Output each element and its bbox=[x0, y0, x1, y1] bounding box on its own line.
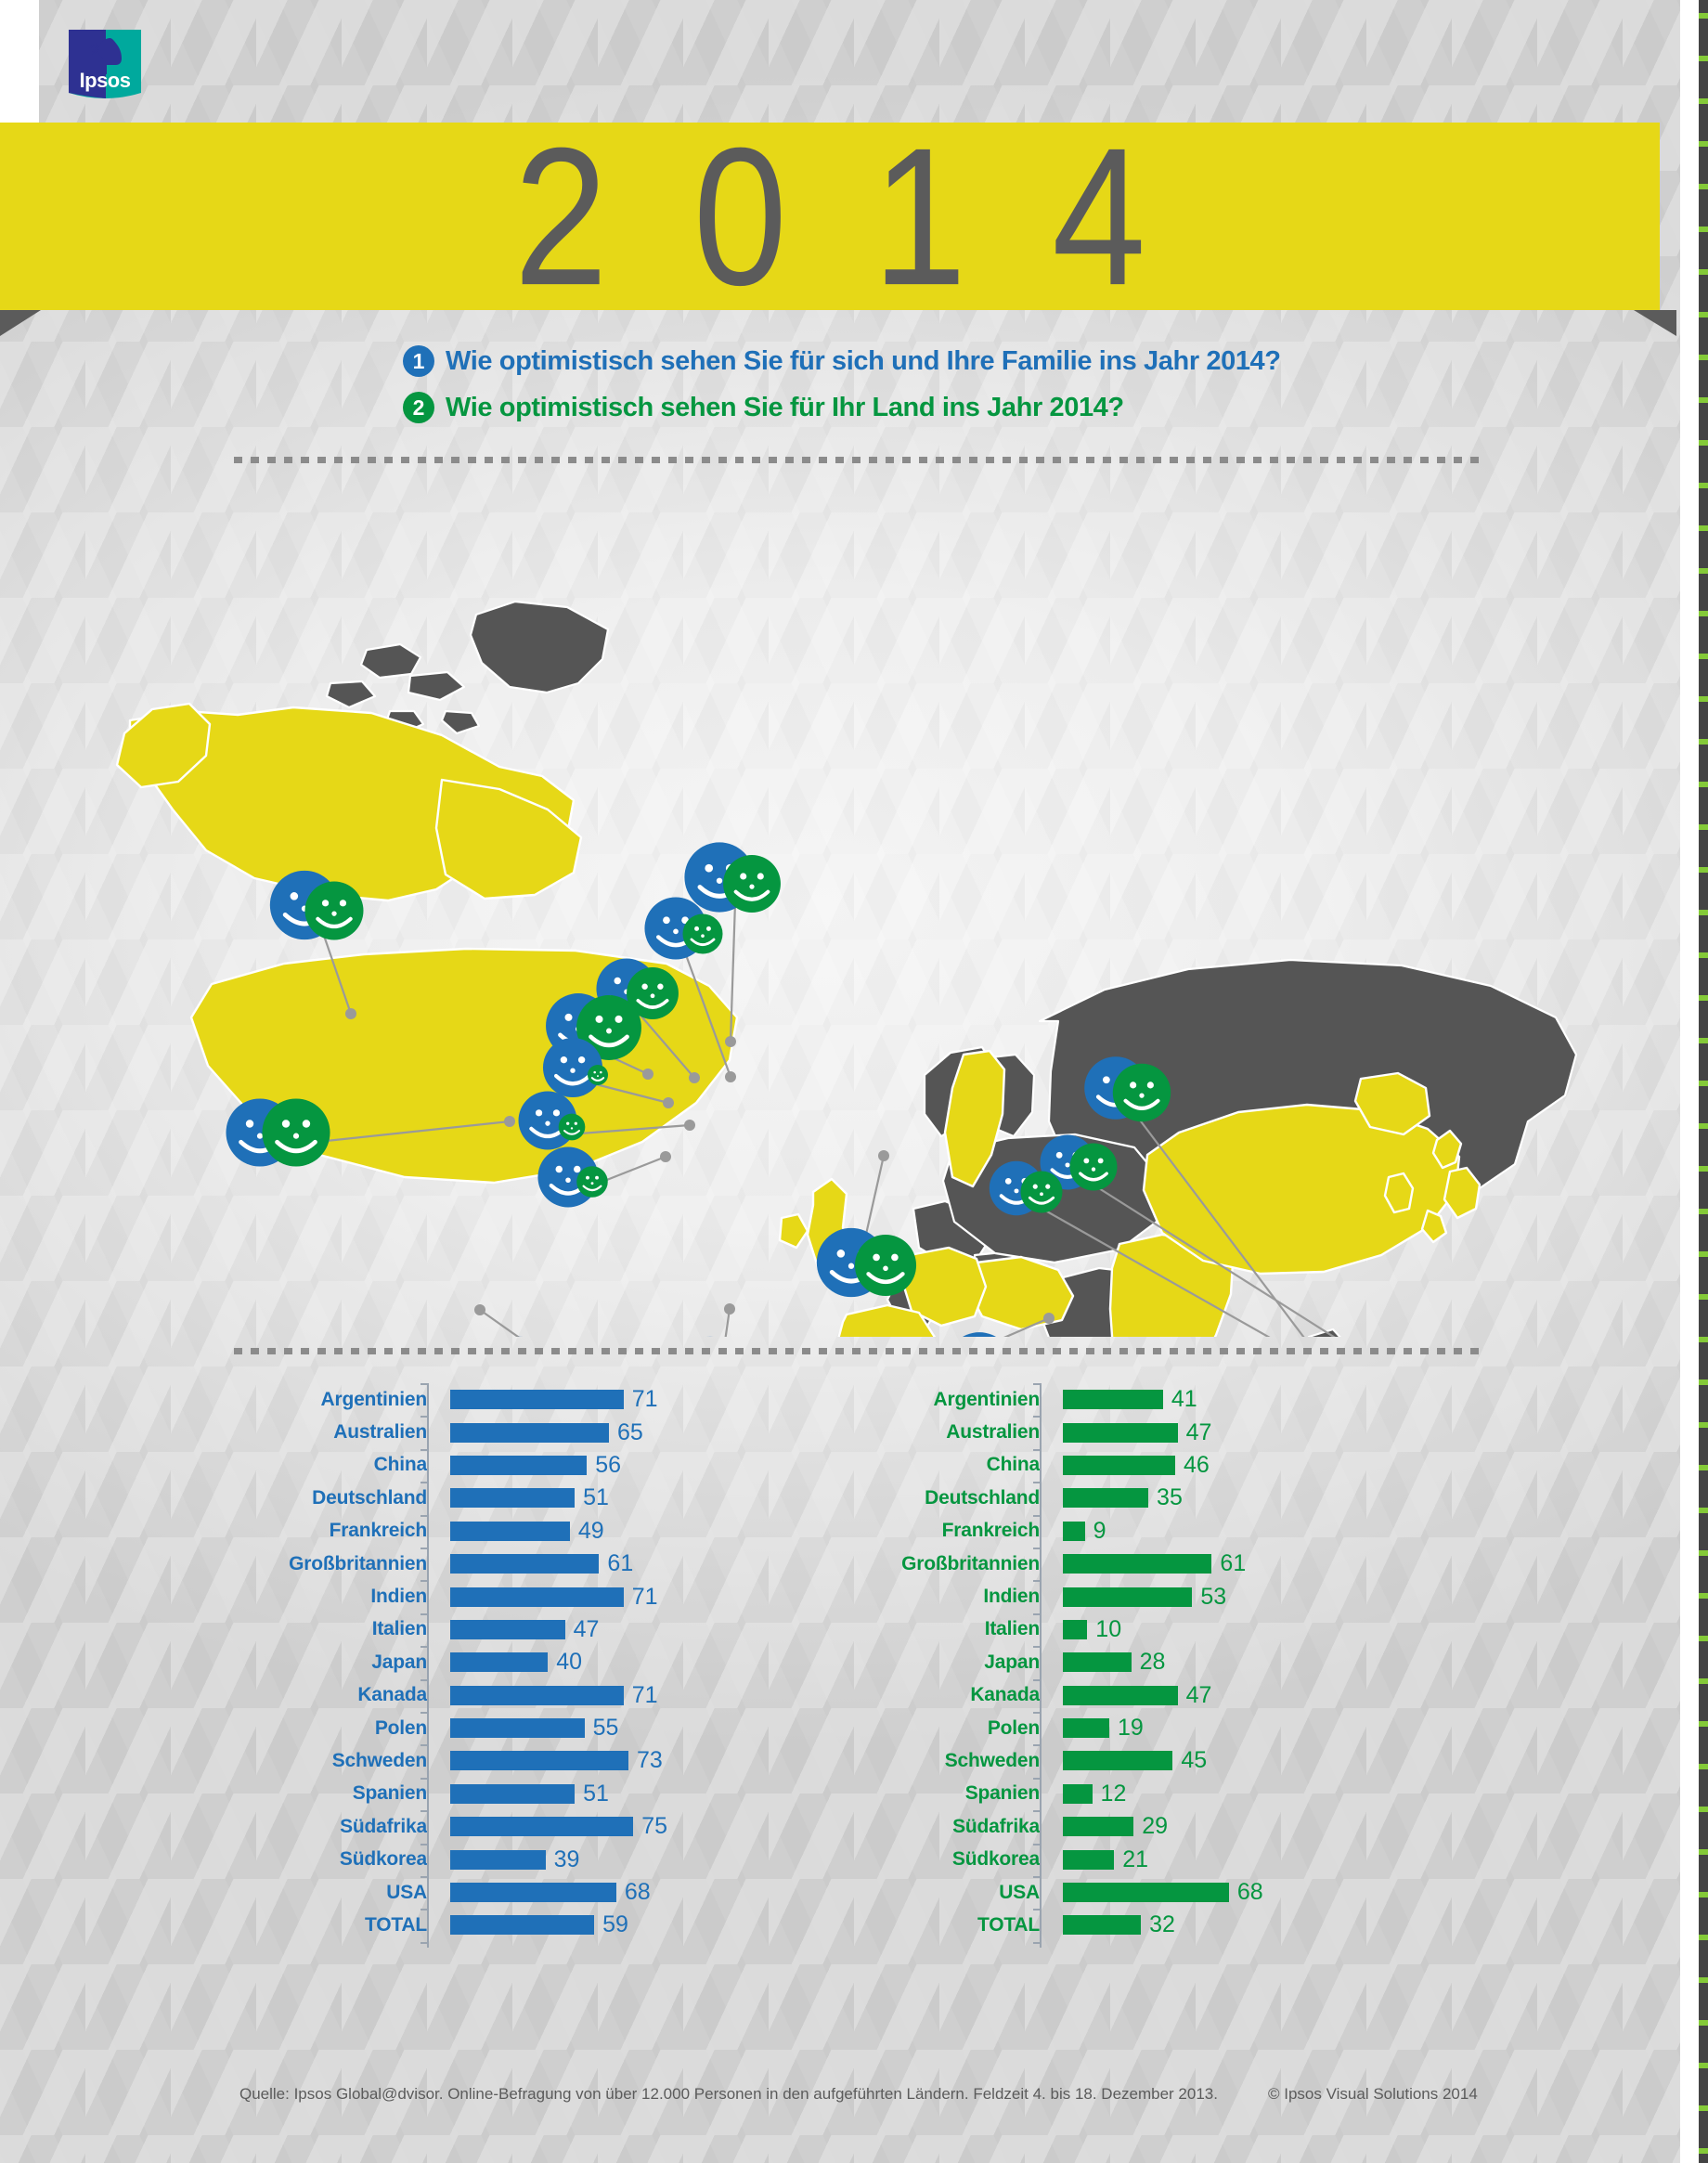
chart-bar-value: 41 bbox=[1171, 1388, 1197, 1411]
svg-text:Ipsos: Ipsos bbox=[80, 69, 131, 92]
chart-bar bbox=[450, 1554, 599, 1574]
chart-bar bbox=[450, 1751, 628, 1770]
chart-bar-value: 53 bbox=[1200, 1586, 1226, 1609]
chart-bar bbox=[1063, 1652, 1132, 1672]
chart-bar-value: 35 bbox=[1157, 1486, 1183, 1509]
chart-bar-value: 40 bbox=[556, 1651, 582, 1674]
chart-row-track: 59 bbox=[440, 1909, 854, 1941]
chart-bar bbox=[450, 1883, 616, 1902]
chart-bar bbox=[450, 1522, 570, 1541]
chart-axis-tick bbox=[1033, 1712, 1042, 1714]
bar-chart-personal: Argentinien71Australien65China56Deutschl… bbox=[278, 1383, 854, 1942]
chart-row-track: 61 bbox=[1053, 1548, 1467, 1580]
chart-bar-value: 71 bbox=[632, 1684, 658, 1707]
chart-row: Japan40 bbox=[278, 1646, 854, 1678]
chart-bar bbox=[450, 1652, 548, 1672]
chart-row-label: Argentinien bbox=[891, 1389, 1053, 1411]
chart-bar bbox=[1063, 1850, 1114, 1870]
chart-bar bbox=[1063, 1883, 1229, 1902]
chart-row-track: 71 bbox=[440, 1679, 854, 1712]
question-2: 2 Wie optimistisch sehen Sie für Ihr Lan… bbox=[403, 392, 1124, 423]
chart-row: Südafrika75 bbox=[278, 1810, 854, 1843]
chart-axis-tick bbox=[1033, 1449, 1042, 1451]
chart-bar-value: 56 bbox=[595, 1454, 621, 1477]
chart-row-label: Großbritannien bbox=[891, 1553, 1053, 1575]
question-2-text: Wie optimistisch sehen Sie für Ihr Land … bbox=[446, 393, 1124, 423]
chart-row-track: 45 bbox=[1053, 1744, 1467, 1777]
chart-axis-tick bbox=[1033, 1778, 1042, 1780]
smiley-blue-australien bbox=[946, 1332, 1013, 1337]
chart-axis-tick bbox=[1033, 1876, 1042, 1878]
chart-row-label: Indien bbox=[278, 1586, 440, 1608]
chart-axis bbox=[1040, 1383, 1050, 1948]
smiley-green-indien bbox=[855, 1235, 916, 1296]
chart-bar bbox=[1063, 1456, 1175, 1475]
chart-row: Frankreich49 bbox=[278, 1515, 854, 1548]
chart-bar-value: 28 bbox=[1140, 1651, 1166, 1674]
chart-row-label: Südkorea bbox=[278, 1848, 440, 1871]
chart-axis-tick bbox=[1033, 1942, 1042, 1944]
chart-bar-value: 39 bbox=[554, 1848, 580, 1872]
chart-bar-value: 51 bbox=[583, 1782, 609, 1806]
chart-bar bbox=[450, 1456, 587, 1475]
smiley-green-china bbox=[1113, 1064, 1171, 1121]
chart-row: TOTAL32 bbox=[891, 1909, 1467, 1941]
chart-axis-tick bbox=[421, 1482, 429, 1483]
chart-bar-value: 9 bbox=[1093, 1520, 1106, 1543]
chart-bar bbox=[1063, 1390, 1163, 1409]
smiley-green-südkorea bbox=[1020, 1171, 1062, 1212]
chart-bar-value: 47 bbox=[1186, 1421, 1212, 1444]
chart-row-label: Kanada bbox=[278, 1684, 440, 1706]
chart-row-label: TOTAL bbox=[278, 1914, 440, 1936]
chart-bar-value: 59 bbox=[602, 1913, 628, 1936]
copyright-note: © Ipsos Visual Solutions 2014 bbox=[1268, 2085, 1478, 2104]
chart-bar bbox=[450, 1488, 575, 1508]
chart-bar-value: 75 bbox=[641, 1815, 667, 1838]
chart-row-label: Australien bbox=[891, 1421, 1053, 1444]
chart-axis-tick bbox=[421, 1744, 429, 1746]
chart-row: Kanada47 bbox=[891, 1679, 1467, 1712]
chart-axis-tick bbox=[1033, 1515, 1042, 1517]
chart-axis-tick bbox=[421, 1383, 429, 1385]
chart-bar-value: 61 bbox=[607, 1552, 633, 1575]
chart-bar-value: 71 bbox=[632, 1586, 658, 1609]
chart-row: Argentinien41 bbox=[891, 1383, 1467, 1416]
chart-row: Australien65 bbox=[278, 1416, 854, 1448]
chart-bar-value: 65 bbox=[617, 1421, 643, 1444]
chart-axis-tick bbox=[1033, 1580, 1042, 1582]
chart-bar bbox=[1063, 1488, 1148, 1508]
chart-row-label: Kanada bbox=[891, 1684, 1053, 1706]
chart-row-label: Frankreich bbox=[891, 1520, 1053, 1542]
chart-row-track: 73 bbox=[440, 1744, 854, 1777]
chart-row-label: Argentinien bbox=[278, 1389, 440, 1411]
chart-bar bbox=[1063, 1587, 1192, 1607]
chart-bar-value: 51 bbox=[583, 1486, 609, 1509]
chart-row-track: 49 bbox=[440, 1515, 854, 1548]
chart-bar bbox=[450, 1817, 633, 1836]
smiley-green-polen bbox=[682, 913, 722, 953]
chart-axis-tick bbox=[421, 1646, 429, 1648]
chart-bar bbox=[1063, 1620, 1087, 1639]
smiley-green-schweden bbox=[723, 855, 781, 913]
chart-row: China46 bbox=[891, 1449, 1467, 1482]
chart-row-track: 47 bbox=[1053, 1416, 1467, 1448]
chart-row-label: Deutschland bbox=[278, 1487, 440, 1509]
chart-bar-value: 68 bbox=[625, 1881, 651, 1904]
chart-row-track: 51 bbox=[440, 1482, 854, 1514]
chart-row-label: China bbox=[278, 1454, 440, 1476]
chart-row-label: Frankreich bbox=[278, 1520, 440, 1542]
chart-bar bbox=[1063, 1686, 1178, 1705]
chart-bar bbox=[450, 1423, 609, 1443]
chart-axis-tick bbox=[421, 1778, 429, 1780]
chart-row-label: Japan bbox=[891, 1651, 1053, 1674]
chart-bar bbox=[450, 1718, 585, 1738]
chart-row: Australien47 bbox=[891, 1416, 1467, 1448]
chart-row: Großbritannien61 bbox=[278, 1548, 854, 1580]
chart-row-label: TOTAL bbox=[891, 1914, 1053, 1936]
chart-row-track: 53 bbox=[1053, 1580, 1467, 1613]
chart-bar bbox=[450, 1620, 565, 1639]
chart-row-track: 21 bbox=[1053, 1843, 1467, 1875]
chart-row-label: Schweden bbox=[278, 1750, 440, 1772]
chart-bar bbox=[1063, 1718, 1109, 1738]
chart-row-label: Schweden bbox=[891, 1750, 1053, 1772]
chart-row-label: China bbox=[891, 1454, 1053, 1476]
chart-axis-tick bbox=[421, 1942, 429, 1944]
chart-bar bbox=[450, 1686, 624, 1705]
chart-2-rows: Argentinien41Australien47China46Deutschl… bbox=[891, 1383, 1467, 1942]
chart-axis-tick bbox=[421, 1515, 429, 1517]
chart-axis-tick bbox=[421, 1679, 429, 1681]
chart-row: Italien47 bbox=[278, 1613, 854, 1646]
chart-row: Deutschland35 bbox=[891, 1482, 1467, 1514]
chart-bar-value: 32 bbox=[1149, 1913, 1175, 1936]
chart-axis-tick bbox=[421, 1613, 429, 1615]
chart-axis-tick bbox=[1033, 1548, 1042, 1549]
chart-axis-tick bbox=[1033, 1383, 1042, 1385]
chart-row-track: 51 bbox=[440, 1778, 854, 1810]
chart-bar bbox=[1063, 1522, 1085, 1541]
chart-axis-tick bbox=[421, 1876, 429, 1878]
chart-bar bbox=[1063, 1423, 1178, 1443]
chart-row: Polen19 bbox=[891, 1712, 1467, 1744]
chart-bar-value: 55 bbox=[593, 1716, 619, 1740]
chart-row-track: 71 bbox=[440, 1383, 854, 1416]
chart-row-track: 41 bbox=[1053, 1383, 1467, 1416]
chart-bar bbox=[1063, 1817, 1133, 1836]
chart-row-track: 32 bbox=[1053, 1909, 1467, 1941]
source-note: Quelle: Ipsos Global@dvisor. Online-Befr… bbox=[239, 2085, 1218, 2104]
chart-bar-value: 47 bbox=[574, 1618, 600, 1641]
chart-row: Indien71 bbox=[278, 1580, 854, 1613]
chart-row-label: USA bbox=[278, 1882, 440, 1904]
smiley-green-italien bbox=[559, 1114, 586, 1141]
chart-row-track: 47 bbox=[440, 1613, 854, 1646]
question-1-text: Wie optimistisch sehen Sie für sich und … bbox=[446, 346, 1281, 377]
chart-row-label: Südafrika bbox=[891, 1816, 1053, 1838]
ipsos-logo: Ipsos bbox=[69, 30, 141, 104]
chart-row-track: 40 bbox=[440, 1646, 854, 1678]
chart-row: Frankreich9 bbox=[891, 1515, 1467, 1548]
chart-bar-value: 12 bbox=[1101, 1782, 1127, 1806]
chart-axis-tick bbox=[421, 1416, 429, 1418]
chart-row-label: Australien bbox=[278, 1421, 440, 1444]
chart-bar-value: 19 bbox=[1118, 1716, 1144, 1740]
chart-axis-tick bbox=[421, 1712, 429, 1714]
chart-axis bbox=[427, 1383, 437, 1948]
chart-axis-tick bbox=[1033, 1416, 1042, 1418]
question-1-badge: 1 bbox=[403, 345, 434, 377]
chart-bar bbox=[450, 1587, 624, 1607]
chart-row: Argentinien71 bbox=[278, 1383, 854, 1416]
chart-row-label: Deutschland bbox=[891, 1487, 1053, 1509]
chart-row-label: Italien bbox=[278, 1618, 440, 1640]
chart-row: Schweden45 bbox=[891, 1744, 1467, 1777]
year-banner-label: 2014 bbox=[0, 108, 1660, 325]
chart-axis-tick bbox=[421, 1548, 429, 1549]
chart-row: USA68 bbox=[278, 1876, 854, 1909]
chart-axis-tick bbox=[1033, 1810, 1042, 1812]
chart-axis-tick bbox=[1033, 1844, 1042, 1846]
question-1: 1 Wie optimistisch sehen Sie für sich un… bbox=[403, 345, 1281, 377]
chart-axis-tick bbox=[421, 1844, 429, 1846]
smiley-green-japan bbox=[1070, 1144, 1118, 1191]
chart-row-label: Polen bbox=[278, 1717, 440, 1740]
chart-row-track: 75 bbox=[440, 1810, 854, 1843]
charts-section: 1 2 Argentinien71Australien65China56Deut… bbox=[0, 1383, 1708, 2014]
chart-bar bbox=[1063, 1784, 1093, 1804]
chart-axis-tick bbox=[1033, 1613, 1042, 1615]
chart-axis-tick bbox=[421, 1449, 429, 1451]
chart-row-track: 29 bbox=[1053, 1810, 1467, 1843]
chart-row: TOTAL59 bbox=[278, 1909, 854, 1941]
chart-row-label: Spanien bbox=[891, 1782, 1053, 1805]
chart-axis-tick bbox=[421, 1810, 429, 1812]
chart-row-track: 35 bbox=[1053, 1482, 1467, 1514]
chart-bar bbox=[1063, 1915, 1141, 1935]
divider-top bbox=[234, 457, 1480, 463]
chart-row-track: 19 bbox=[1053, 1712, 1467, 1744]
chart-bar-value: 61 bbox=[1220, 1552, 1246, 1575]
chart-bar-value: 71 bbox=[632, 1388, 658, 1411]
smiley-green-usa bbox=[262, 1098, 330, 1166]
smiley-green-frankreich bbox=[588, 1065, 608, 1085]
chart-row-track: 55 bbox=[440, 1712, 854, 1744]
chart-row: Südkorea39 bbox=[278, 1843, 854, 1875]
chart-row-label: Südafrika bbox=[278, 1816, 440, 1838]
chart-row-track: 68 bbox=[1053, 1876, 1467, 1909]
chart-row-label: Südkorea bbox=[891, 1848, 1053, 1871]
chart-row-track: 47 bbox=[1053, 1679, 1467, 1712]
chart-row-label: USA bbox=[891, 1882, 1053, 1904]
chart-bar-value: 46 bbox=[1184, 1454, 1210, 1477]
chart-bar bbox=[450, 1784, 575, 1804]
chart-bar bbox=[1063, 1751, 1172, 1770]
chart-row: Spanien12 bbox=[891, 1778, 1467, 1810]
chart-row-label: Japan bbox=[278, 1651, 440, 1674]
chart-row: USA68 bbox=[891, 1876, 1467, 1909]
chart-row: Polen55 bbox=[278, 1712, 854, 1744]
chart-row: Deutschland51 bbox=[278, 1482, 854, 1514]
chart-row-track: 56 bbox=[440, 1449, 854, 1482]
chart-row: Großbritannien61 bbox=[891, 1548, 1467, 1580]
chart-axis-tick bbox=[1033, 1909, 1042, 1910]
chart-row-track: 28 bbox=[1053, 1646, 1467, 1678]
chart-axis-tick bbox=[1033, 1482, 1042, 1483]
chart-bar bbox=[450, 1850, 546, 1870]
chart-row-track: 39 bbox=[440, 1843, 854, 1875]
chart-row: Japan28 bbox=[891, 1646, 1467, 1678]
infographic-poster: Ipsos 2014 1 Wie optimistisch sehen Sie … bbox=[0, 0, 1708, 2163]
chart-row: Indien53 bbox=[891, 1580, 1467, 1613]
chart-row-label: Spanien bbox=[278, 1782, 440, 1805]
chart-bar-value: 45 bbox=[1181, 1749, 1207, 1772]
chart-row-track: 10 bbox=[1053, 1613, 1467, 1646]
chart-bar-value: 49 bbox=[578, 1520, 604, 1543]
chart-axis-tick bbox=[1033, 1646, 1042, 1648]
chart-row: Spanien51 bbox=[278, 1778, 854, 1810]
divider-bottom bbox=[234, 1348, 1480, 1354]
question-2-badge: 2 bbox=[403, 392, 434, 423]
chart-axis-tick bbox=[421, 1909, 429, 1910]
chart-bar-value: 21 bbox=[1122, 1848, 1148, 1872]
chart-row-track: 65 bbox=[440, 1416, 854, 1448]
chart-row-label: Großbritannien bbox=[278, 1553, 440, 1575]
chart-row: Schweden73 bbox=[278, 1744, 854, 1777]
chart-row: Südafrika29 bbox=[891, 1810, 1467, 1843]
chart-bar-value: 68 bbox=[1237, 1881, 1263, 1904]
chart-row-label: Polen bbox=[891, 1717, 1053, 1740]
chart-bar-value: 73 bbox=[637, 1749, 663, 1772]
chart-1-rows: Argentinien71Australien65China56Deutschl… bbox=[278, 1383, 854, 1942]
chart-axis-tick bbox=[421, 1580, 429, 1582]
chart-row-track: 61 bbox=[440, 1548, 854, 1580]
chart-row: Kanada71 bbox=[278, 1679, 854, 1712]
smiley-green-spanien bbox=[576, 1166, 608, 1198]
chart-axis-tick bbox=[1033, 1679, 1042, 1681]
chart-bar bbox=[450, 1915, 594, 1935]
chart-bar-value: 10 bbox=[1095, 1618, 1121, 1641]
chart-row-track: 46 bbox=[1053, 1449, 1467, 1482]
chart-row-track: 68 bbox=[440, 1876, 854, 1909]
chart-bar bbox=[450, 1390, 624, 1409]
bar-chart-country: Argentinien41Australien47China46Deutschl… bbox=[891, 1383, 1467, 1942]
chart-bar-value: 29 bbox=[1142, 1815, 1168, 1838]
chart-axis-tick bbox=[1033, 1744, 1042, 1746]
chart-row-track: 71 bbox=[440, 1580, 854, 1613]
chart-row: Italien10 bbox=[891, 1613, 1467, 1646]
chart-bar-value: 47 bbox=[1186, 1684, 1212, 1707]
chart-row: Südkorea21 bbox=[891, 1843, 1467, 1875]
chart-row-track: 12 bbox=[1053, 1778, 1467, 1810]
chart-bar bbox=[1063, 1554, 1211, 1574]
chart-row-track: 9 bbox=[1053, 1515, 1467, 1548]
chart-row-label: Italien bbox=[891, 1618, 1053, 1640]
chart-row-label: Indien bbox=[891, 1586, 1053, 1608]
chart-row: China56 bbox=[278, 1449, 854, 1482]
smiley-green-kanada bbox=[305, 882, 364, 940]
world-map bbox=[111, 501, 1597, 1337]
